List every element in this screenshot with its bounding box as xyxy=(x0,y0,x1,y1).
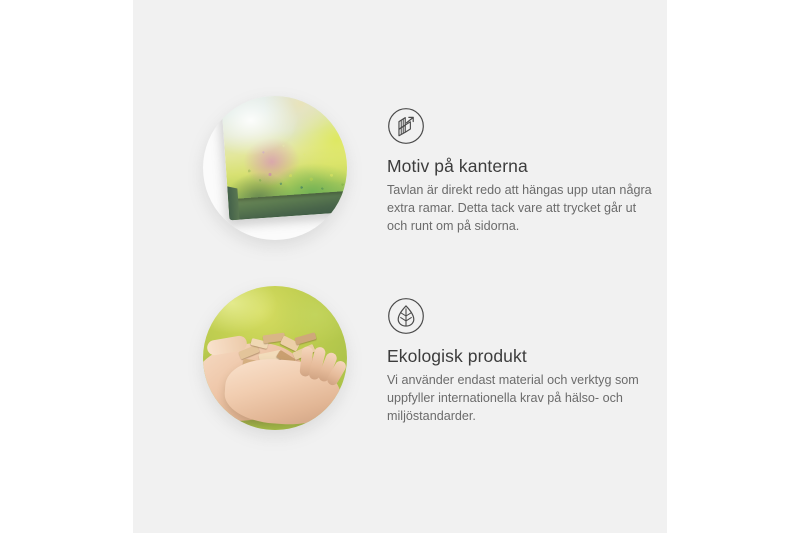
leaf-icon xyxy=(387,297,425,335)
fingers xyxy=(295,344,347,401)
content-panel xyxy=(133,0,667,533)
feature-title: Motiv på kanterna xyxy=(387,156,659,177)
letterbox-left xyxy=(0,0,133,533)
feature-title: Ekologisk produkt xyxy=(387,346,659,367)
canvas-print-corner-photo xyxy=(203,96,347,240)
product-feature-panel: Motiv på kanterna Tavlan är direkt redo … xyxy=(0,0,800,533)
feature-row-canvas-edges: Motiv på kanterna Tavlan är direkt redo … xyxy=(203,96,659,240)
feature-body: Vi använder endast material och verktyg … xyxy=(387,372,655,426)
letterbox-right xyxy=(667,0,800,533)
canvas-wrapped-edge-icon xyxy=(387,107,425,145)
feature-body: Tavlan är direkt redo att hängas upp uta… xyxy=(387,182,655,236)
feature-copy-eco-product: Ekologisk produkt Vi använder endast mat… xyxy=(387,286,659,426)
feature-row-eco-product: Ekologisk produkt Vi använder endast mat… xyxy=(203,286,659,430)
hands-holding-wood-chips-photo xyxy=(203,286,347,430)
feature-copy-canvas-edges: Motiv på kanterna Tavlan är direkt redo … xyxy=(387,96,659,236)
canvas-block xyxy=(221,96,347,220)
